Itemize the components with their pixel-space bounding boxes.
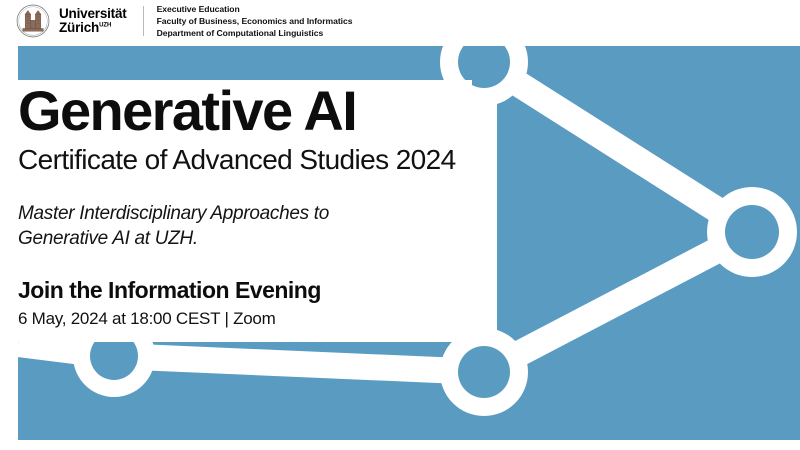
uzh-wordmark: Universität ZürichUZH xyxy=(59,7,127,35)
uzh-wordmark-line2: Zürich xyxy=(59,20,99,35)
uzh-wordmark-superscript: UZH xyxy=(99,23,111,29)
cta-heading: Join the Information Evening xyxy=(18,277,470,304)
department-block: Executive Education Faculty of Business,… xyxy=(157,3,353,40)
tagline-line-1: Master Interdisciplinary Approaches to xyxy=(18,201,470,226)
header-divider xyxy=(143,6,144,36)
event-datetime: 6 May, 2024 at 18:00 CEST | Zoom xyxy=(18,309,470,329)
department-line-2: Faculty of Business, Economics and Infor… xyxy=(157,15,353,27)
tagline-line-2: Generative AI at UZH. xyxy=(18,226,470,251)
page-subtitle: Certificate of Advanced Studies 2024 xyxy=(18,145,470,175)
tagline: Master Interdisciplinary Approaches to G… xyxy=(18,201,470,252)
uzh-logo[interactable]: Universität ZürichUZH xyxy=(16,4,127,38)
uzh-wordmark-line1: Universität xyxy=(59,7,127,21)
poster-canvas: Universität ZürichUZH Executive Educatio… xyxy=(0,0,800,450)
department-line-1: Executive Education xyxy=(157,3,353,15)
uzh-seal-icon xyxy=(16,4,50,38)
main-text-panel: Generative AI Certificate of Advanced St… xyxy=(18,84,470,329)
department-line-3: Department of Computational Linguistics xyxy=(157,27,353,39)
site-header: Universität ZürichUZH Executive Educatio… xyxy=(0,0,800,42)
page-title: Generative AI xyxy=(18,84,470,139)
